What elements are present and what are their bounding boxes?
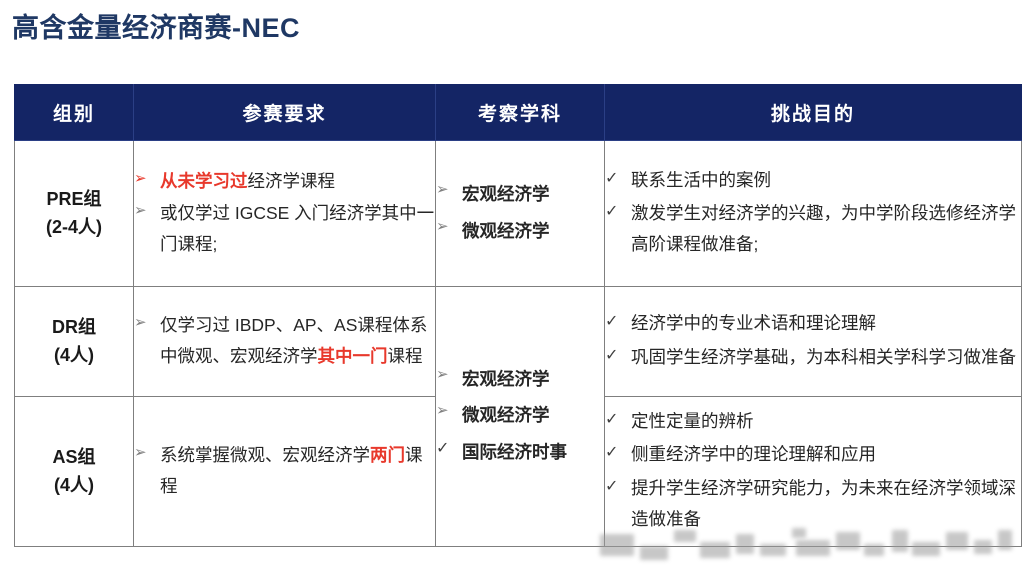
- check-bullet-icon: ✓: [605, 198, 618, 226]
- check-bullet-icon: ✓: [605, 165, 618, 193]
- requirement-text: 经济学课程: [248, 171, 336, 191]
- list-item: ➢ 或仅学过 IGCSE 入门经济学其中一门课程;: [134, 198, 435, 258]
- requirement-text: 系统掌握微观、宏观经济学: [160, 445, 370, 465]
- list-item: ✓ 联系生活中的案例: [605, 165, 1021, 196]
- purpose-text: 巩固学生经济学基础，为本科相关学科学习做准备: [631, 347, 1016, 367]
- purpose-cell-pre: ✓ 联系生活中的案例 ✓ 激发学生对经济学的兴趣，为中学阶段选修经济学高阶课程做…: [605, 141, 1022, 287]
- subjects-list: ➢ 宏观经济学 ➢ 微观经济学: [436, 177, 604, 247]
- requirements-cell-dr: ➢ 仅学习过 IBDP、AP、AS课程体系中微观、宏观经济学其中一门课程: [134, 287, 436, 397]
- requirement-highlight: 从未学习过: [160, 171, 248, 191]
- group-size: (4人): [15, 342, 133, 370]
- subjects-cell-merged: ➢ 宏观经济学 ➢ 微观经济学 ✓ 国际经济时事: [436, 287, 605, 547]
- purpose-list: ✓ 定性定量的辨析 ✓ 侧重经济学中的理论理解和应用 ✓ 提升学生经济学研究能力…: [605, 406, 1021, 535]
- list-item: ✓ 提升学生经济学研究能力，为未来在经济学领域深造做准备: [605, 473, 1021, 535]
- purpose-list: ✓ 联系生活中的案例 ✓ 激发学生对经济学的兴趣，为中学阶段选修经济学高阶课程做…: [605, 165, 1021, 260]
- column-header-group: 组别: [15, 85, 134, 141]
- group-size: (2-4人): [15, 214, 133, 242]
- table-header-row: 组别 参赛要求 考察学科 挑战目的: [15, 85, 1022, 141]
- subject-label: 宏观经济学: [462, 369, 550, 389]
- requirements-cell-pre: ➢ 从未学习过经济学课程 ➢ 或仅学过 IGCSE 入门经济学其中一门课程;: [134, 141, 436, 287]
- list-item: ✓ 经济学中的专业术语和理论理解: [605, 308, 1021, 339]
- requirements-list: ➢ 系统掌握微观、宏观经济学两门课程: [134, 440, 435, 500]
- list-item: ✓ 国际经济时事: [436, 435, 604, 469]
- purpose-text: 经济学中的专业术语和理论理解: [631, 313, 876, 333]
- check-bullet-icon: ✓: [436, 435, 449, 463]
- page-title: 高含金量经济商赛-NEC: [12, 6, 300, 45]
- table-row: PRE组 (2-4人) ➢ 从未学习过经济学课程 ➢ 或仅学过 IGCSE 入门…: [15, 141, 1022, 287]
- list-item: ✓ 巩固学生经济学基础，为本科相关学科学习做准备: [605, 342, 1021, 373]
- requirement-highlight: 两门: [370, 445, 405, 465]
- arrow-bullet-icon: ➢: [134, 310, 147, 337]
- arrow-bullet-icon: ➢: [436, 214, 449, 241]
- requirement-text-tail: 课程: [388, 346, 423, 366]
- group-name: AS组: [15, 444, 133, 472]
- purpose-text: 定性定量的辨析: [631, 411, 754, 431]
- column-header-purpose: 挑战目的: [605, 85, 1022, 141]
- check-bullet-icon: ✓: [605, 439, 618, 467]
- group-cell-pre: PRE组 (2-4人): [15, 141, 134, 287]
- group-cell-dr: DR组 (4人): [15, 287, 134, 397]
- requirements-cell-as: ➢ 系统掌握微观、宏观经济学两门课程: [134, 397, 436, 547]
- check-bullet-icon: ✓: [605, 473, 618, 501]
- subject-label: 微观经济学: [462, 221, 550, 241]
- group-size: (4人): [15, 472, 133, 500]
- check-bullet-icon: ✓: [605, 342, 618, 370]
- list-item: ✓ 定性定量的辨析: [605, 406, 1021, 437]
- list-item: ➢ 系统掌握微观、宏观经济学两门课程: [134, 440, 435, 500]
- arrow-bullet-icon: ➢: [436, 177, 449, 204]
- group-name: DR组: [15, 314, 133, 342]
- check-bullet-icon: ✓: [605, 406, 618, 434]
- arrow-bullet-icon: ➢: [436, 398, 449, 425]
- purpose-text: 提升学生经济学研究能力，为未来在经济学领域深造做准备: [631, 478, 1016, 529]
- list-item: ➢ 宏观经济学: [436, 177, 604, 211]
- check-bullet-icon: ✓: [605, 308, 618, 336]
- list-item: ➢ 仅学习过 IBDP、AP、AS课程体系中微观、宏观经济学其中一门课程: [134, 310, 435, 370]
- purpose-text: 侧重经济学中的理论理解和应用: [631, 444, 876, 464]
- column-header-requirements: 参赛要求: [134, 85, 436, 141]
- subjects-list: ➢ 宏观经济学 ➢ 微观经济学 ✓ 国际经济时事: [436, 362, 604, 468]
- column-header-subjects: 考察学科: [436, 85, 605, 141]
- subject-label: 微观经济学: [462, 405, 550, 425]
- list-item: ➢ 微观经济学: [436, 214, 604, 248]
- requirements-list: ➢ 从未学习过经济学课程 ➢ 或仅学过 IGCSE 入门经济学其中一门课程;: [134, 166, 435, 258]
- subject-label: 国际经济时事: [462, 442, 567, 462]
- arrow-bullet-icon: ➢: [134, 166, 147, 193]
- group-name: PRE组: [15, 186, 133, 214]
- purpose-text: 联系生活中的案例: [631, 170, 771, 190]
- list-item: ✓ 激发学生对经济学的兴趣，为中学阶段选修经济学高阶课程做准备;: [605, 198, 1021, 260]
- purpose-cell-dr: ✓ 经济学中的专业术语和理论理解 ✓ 巩固学生经济学基础，为本科相关学科学习做准…: [605, 287, 1022, 397]
- requirement-text: 或仅学过 IGCSE 入门经济学其中一门课程;: [160, 203, 434, 253]
- group-cell-as: AS组 (4人): [15, 397, 134, 547]
- requirements-list: ➢ 仅学习过 IBDP、AP、AS课程体系中微观、宏观经济学其中一门课程: [134, 310, 435, 370]
- competition-groups-table: 组别 参赛要求 考察学科 挑战目的 PRE组 (2-4人) ➢ 从未学习过经济学…: [14, 84, 1022, 547]
- list-item: ➢ 宏观经济学: [436, 362, 604, 396]
- list-item: ➢ 从未学习过经济学课程: [134, 166, 435, 196]
- arrow-bullet-icon: ➢: [134, 198, 147, 225]
- list-item: ✓ 侧重经济学中的理论理解和应用: [605, 439, 1021, 470]
- arrow-bullet-icon: ➢: [436, 362, 449, 389]
- purpose-list: ✓ 经济学中的专业术语和理论理解 ✓ 巩固学生经济学基础，为本科相关学科学习做准…: [605, 308, 1021, 372]
- arrow-bullet-icon: ➢: [134, 440, 147, 467]
- purpose-text: 激发学生对经济学的兴趣，为中学阶段选修经济学高阶课程做准备;: [631, 203, 1016, 254]
- purpose-cell-as: ✓ 定性定量的辨析 ✓ 侧重经济学中的理论理解和应用 ✓ 提升学生经济学研究能力…: [605, 397, 1022, 547]
- subjects-cell-pre: ➢ 宏观经济学 ➢ 微观经济学: [436, 141, 605, 287]
- table-row: DR组 (4人) ➢ 仅学习过 IBDP、AP、AS课程体系中微观、宏观经济学其…: [15, 287, 1022, 397]
- requirement-highlight: 其中一门: [318, 346, 388, 366]
- subject-label: 宏观经济学: [462, 184, 550, 204]
- list-item: ➢ 微观经济学: [436, 398, 604, 432]
